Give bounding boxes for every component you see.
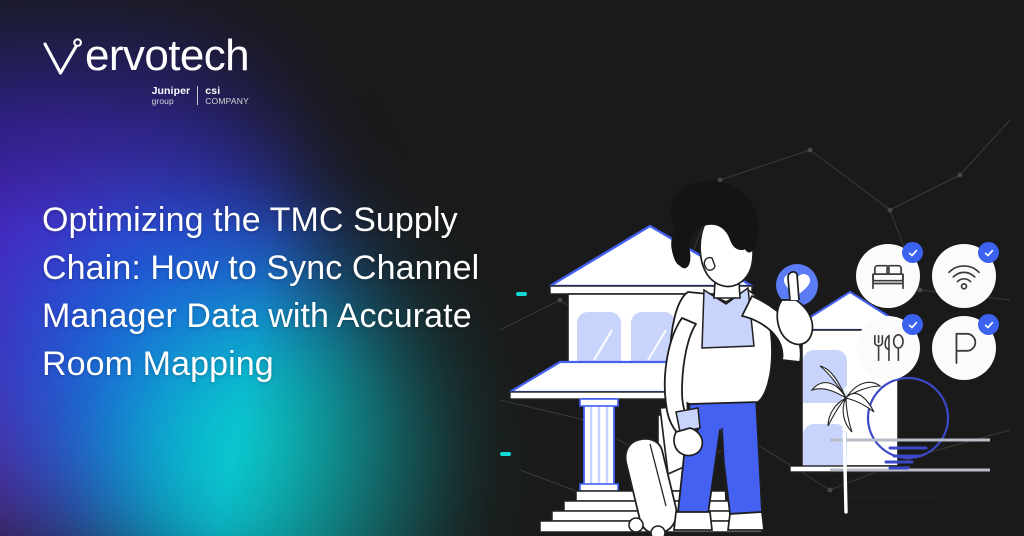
page-title: Optimizing the TMC Supply Chain: How to … (42, 196, 542, 388)
verified-badge (902, 314, 923, 335)
logo-subtext: Juniper group csi COMPANY (152, 86, 249, 105)
water-deck-lines (835, 478, 940, 498)
logo-wordmark-text: ervotech (85, 33, 249, 79)
verified-badge (978, 314, 999, 335)
hotel-columns (580, 399, 618, 491)
palm-sunset-scene (812, 366, 990, 512)
logo-divider (197, 86, 198, 105)
amenity-chip-wifi[interactable] (932, 244, 996, 308)
amenity-chip-grid (856, 244, 1000, 384)
bed-icon (870, 261, 906, 291)
logo-csi-text: csi (205, 86, 249, 97)
verified-badge (902, 242, 923, 263)
logo-group-text: group (152, 97, 191, 106)
verified-badge (978, 242, 999, 263)
logo-company-text: COMPANY (205, 97, 249, 106)
logo-csi-company: csi COMPANY (205, 86, 249, 105)
parking-icon (948, 331, 980, 365)
wifi-icon (946, 261, 982, 291)
banner-canvas: ervotech Juniper group csi COMPANY Optim… (0, 0, 1024, 536)
traveler-woman (665, 181, 813, 530)
logo-wordmark-row: ervotech (40, 33, 249, 84)
amenity-chip-parking[interactable] (932, 316, 996, 380)
logo-juniper-group: Juniper group (152, 86, 191, 105)
vervotech-logo[interactable]: ervotech Juniper group csi COMPANY (40, 33, 249, 105)
amenity-chip-restaurant[interactable] (856, 316, 920, 380)
amenity-chip-bed[interactable] (856, 244, 920, 308)
vervotech-check-v-mark-icon (40, 35, 84, 84)
cutlery-icon (871, 332, 905, 364)
logo-juniper-text: Juniper (152, 86, 191, 97)
